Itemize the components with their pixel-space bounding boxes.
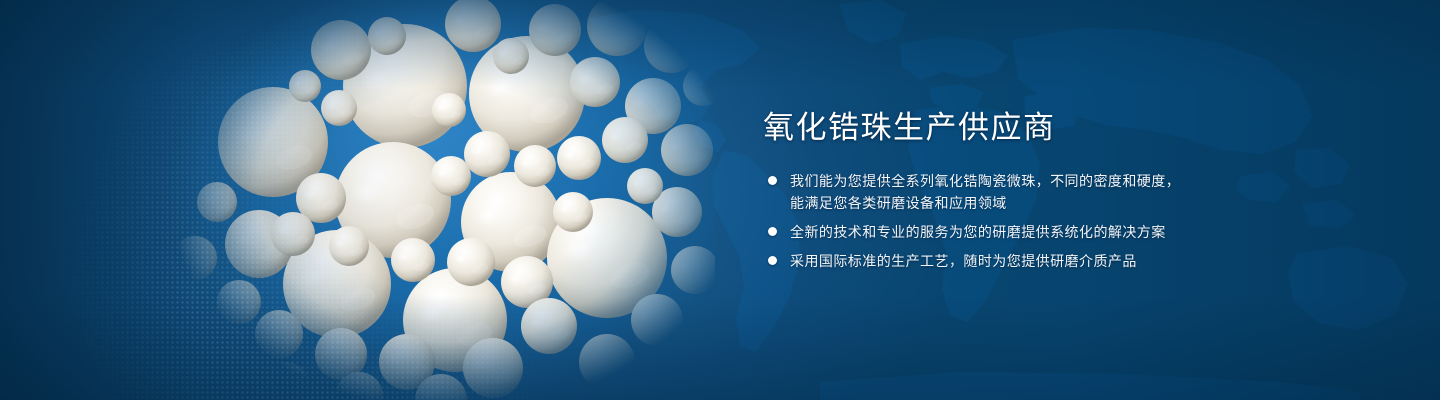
bullet-dot-icon [768,256,777,265]
list-item: 采用国际标准的生产工艺，随时为您提供研磨介质产品 [763,250,1323,272]
list-item-line: 全新的技术和专业的服务为您的研磨提供系统化的解决方案 [790,221,1323,243]
list-item-line: 我们能为您提供全系列氧化锆陶瓷微珠，不同的密度和硬度， [790,170,1323,192]
feature-list: 我们能为您提供全系列氧化锆陶瓷微珠，不同的密度和硬度， 能满足您各类研磨设备和应… [763,170,1323,272]
list-item: 我们能为您提供全系列氧化锆陶瓷微珠，不同的密度和硬度， 能满足您各类研磨设备和应… [763,170,1323,214]
list-item-line: 能满足您各类研磨设备和应用领域 [790,192,1323,214]
list-item: 全新的技术和专业的服务为您的研磨提供系统化的解决方案 [763,221,1323,243]
list-item-line: 采用国际标准的生产工艺，随时为您提供研磨介质产品 [790,250,1323,272]
page-title: 氧化锆珠生产供应商 [763,108,1323,148]
hero-banner: 氧化锆珠生产供应商 我们能为您提供全系列氧化锆陶瓷微珠，不同的密度和硬度， 能满… [0,0,1440,400]
bullet-dot-icon [768,176,777,185]
banner-text-panel: 氧化锆珠生产供应商 我们能为您提供全系列氧化锆陶瓷微珠，不同的密度和硬度， 能满… [763,108,1323,272]
bullet-dot-icon [768,227,777,236]
